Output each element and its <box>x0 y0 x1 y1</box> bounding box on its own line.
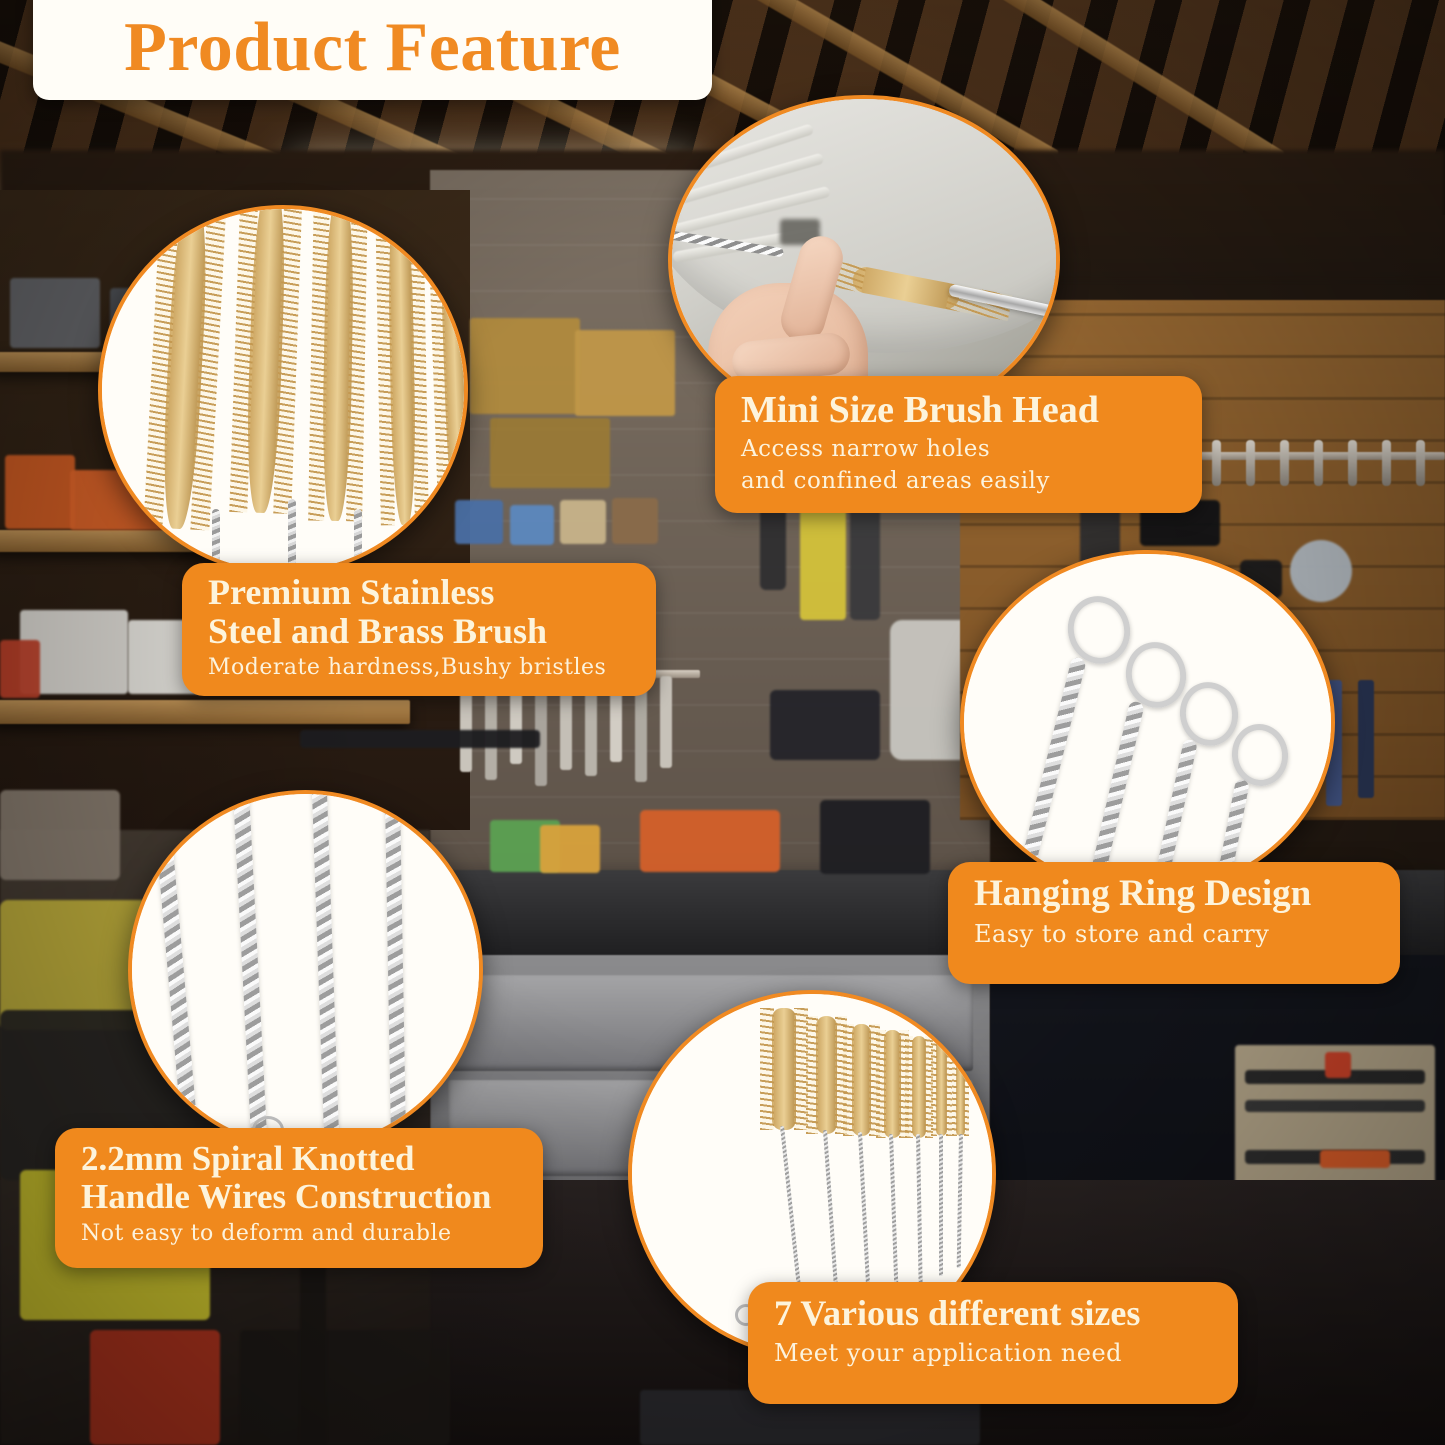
brass-brush <box>159 205 210 530</box>
callout-subtitle: Meet your application need <box>774 1338 1212 1369</box>
brass-brush <box>884 1030 901 1138</box>
brass-brush <box>321 205 355 521</box>
callout-title-line-2: Handle Wires Construction <box>81 1178 517 1216</box>
callout-mini-size-brush-head: Mini Size Brush Head Access narrow holes… <box>715 376 1202 513</box>
photo-twisted-steel-handle-wires-closeup <box>128 790 483 1150</box>
callout-title: 7 Various different sizes <box>774 1294 1212 1333</box>
callout-premium-stainless-steel-and-brass-brush: Premium Stainless Steel and Brass Brush … <box>182 563 656 696</box>
brush-wire-handle <box>939 1134 943 1276</box>
brass-brush <box>772 1008 796 1130</box>
callout-subtitle: Moderate hardness,Bushy bristles <box>208 654 630 683</box>
callout-subtitle-line-1: Access narrow holes <box>741 435 1176 465</box>
callout-title-line-1: Premium Stainless <box>208 573 630 612</box>
brass-brush <box>912 1036 926 1138</box>
brass-brush <box>936 1040 947 1136</box>
brass-brush <box>438 205 468 531</box>
callout-title-line-1: 2.2mm Spiral Knotted <box>81 1140 517 1178</box>
callout-subtitle: Not easy to deform and durable <box>81 1220 517 1249</box>
callout-subtitle-line-2: and confined areas easily <box>741 467 1176 497</box>
brass-brush <box>387 205 417 525</box>
brass-brush <box>816 1016 837 1134</box>
title-banner: Product Feature <box>33 0 712 100</box>
callout-title: Hanging Ring Design <box>974 874 1374 914</box>
callout-spiral-knotted-handle-wires-construction: 2.2mm Spiral Knotted Handle Wires Constr… <box>55 1128 543 1268</box>
callout-title-line-2: Steel and Brass Brush <box>208 612 630 651</box>
photo-four-wire-handles-with-hanging-rings <box>960 550 1335 895</box>
brass-brush <box>956 1044 965 1136</box>
photo-brass-bristle-brushes-closeup <box>98 205 468 575</box>
photo-background <box>964 554 1331 891</box>
callout-title: Mini Size Brush Head <box>741 390 1176 431</box>
callout-subtitle: Easy to store and carry <box>974 919 1374 950</box>
brass-brush <box>852 1024 871 1136</box>
brass-brush <box>244 205 287 513</box>
callout-hanging-ring-design: Hanging Ring Design Easy to store and ca… <box>948 862 1400 984</box>
page-title: Product Feature <box>124 3 621 83</box>
callout-seven-various-different-sizes: 7 Various different sizes Meet your appl… <box>748 1282 1238 1404</box>
